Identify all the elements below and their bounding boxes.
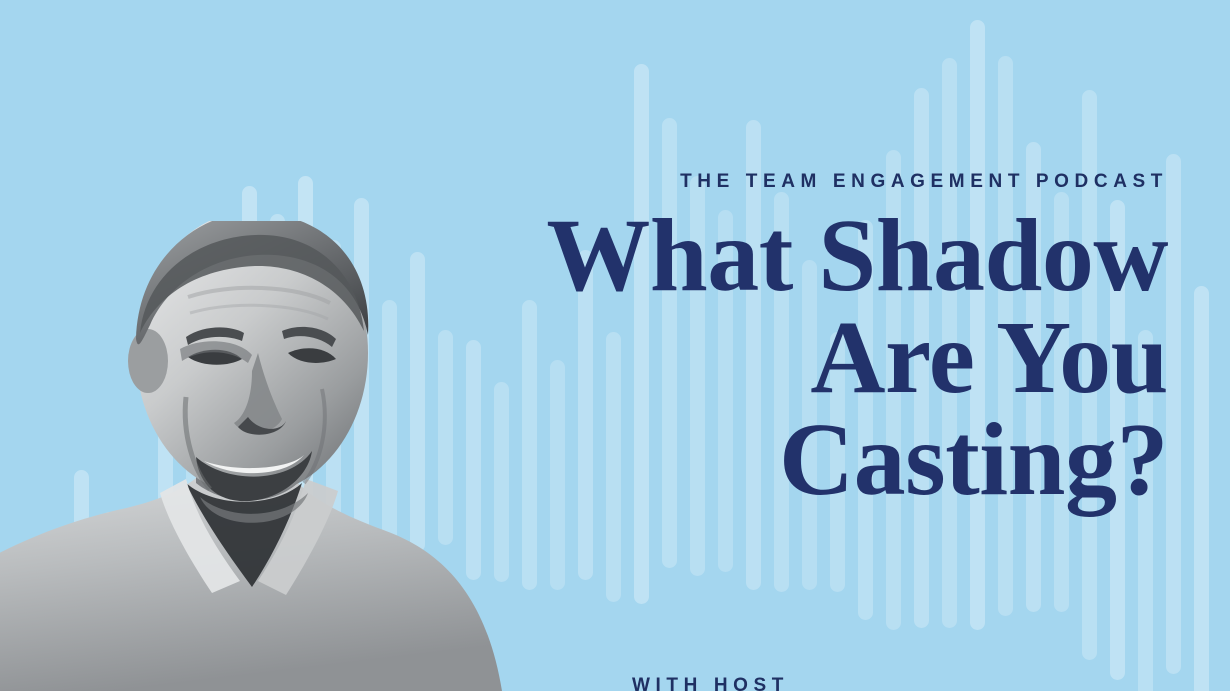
with-host-label: WITH HOST bbox=[632, 676, 789, 691]
waveform-bar bbox=[1166, 154, 1181, 674]
title-line-3: Casting? bbox=[428, 409, 1168, 511]
title-line-2: Are You bbox=[428, 307, 1168, 409]
podcast-cover-canvas: THE TEAM ENGAGEMENT PODCAST What Shadow … bbox=[0, 0, 1230, 691]
waveform-bar bbox=[1194, 286, 1209, 691]
podcast-kicker: THE TEAM ENGAGEMENT PODCAST bbox=[428, 172, 1168, 191]
title-line-1: What Shadow bbox=[428, 205, 1168, 307]
cover-text-block: THE TEAM ENGAGEMENT PODCAST What Shadow … bbox=[428, 172, 1168, 511]
episode-title: What Shadow Are You Casting? bbox=[428, 205, 1168, 511]
